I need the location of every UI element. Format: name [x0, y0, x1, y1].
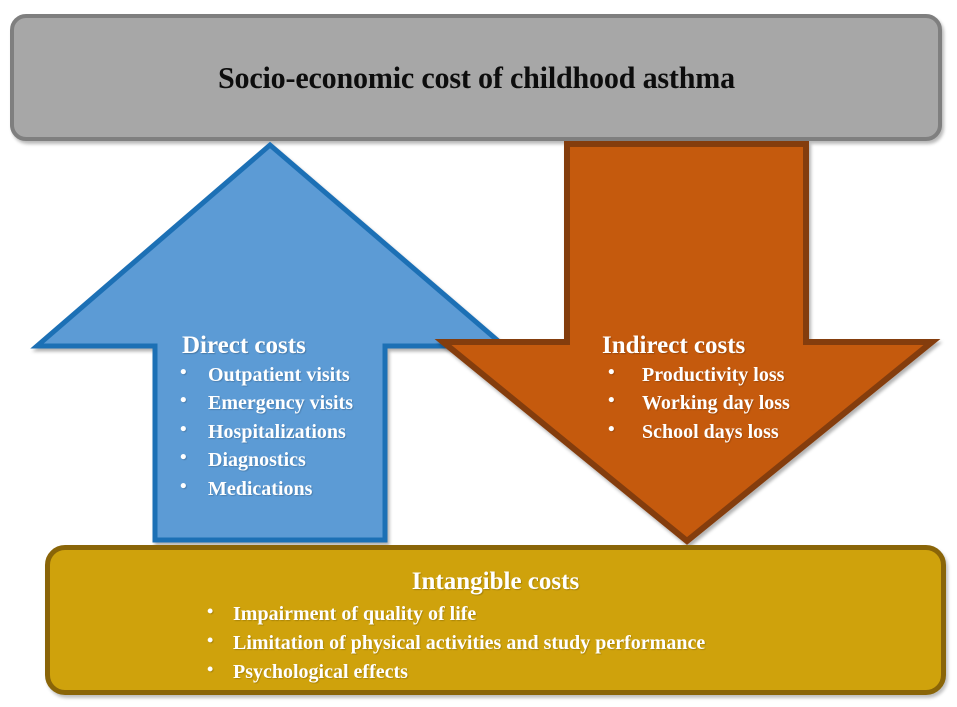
intangible-costs-list: Impairment of quality of life Limitation… [50, 600, 941, 687]
intangible-costs-heading: Intangible costs [50, 568, 941, 596]
list-item: Emergency visits [178, 389, 353, 417]
intangible-costs-box: Intangible costs Impairment of quality o… [45, 545, 946, 695]
list-item: Psychological effects [205, 658, 941, 687]
diagram-canvas: Socio-economic cost of childhood asthma … [0, 0, 957, 707]
list-item: Limitation of physical activities and st… [205, 629, 941, 658]
indirect-costs-heading: Indirect costs [598, 332, 790, 359]
list-item: School days loss [598, 418, 790, 446]
list-item: Working day loss [598, 389, 790, 417]
list-item: Productivity loss [598, 361, 790, 389]
list-item: Medications [178, 475, 353, 503]
direct-costs-list: Outpatient visits Emergency visits Hospi… [178, 361, 353, 503]
list-item: Diagnostics [178, 446, 353, 474]
direct-costs-heading: Direct costs [178, 332, 353, 359]
indirect-costs-list: Productivity loss Working day loss Schoo… [598, 361, 790, 446]
list-item: Impairment of quality of life [205, 600, 941, 629]
direct-costs-block: Direct costs Outpatient visits Emergency… [178, 332, 353, 503]
list-item: Hospitalizations [178, 418, 353, 446]
list-item: Outpatient visits [178, 361, 353, 389]
indirect-costs-block: Indirect costs Productivity loss Working… [598, 332, 790, 446]
